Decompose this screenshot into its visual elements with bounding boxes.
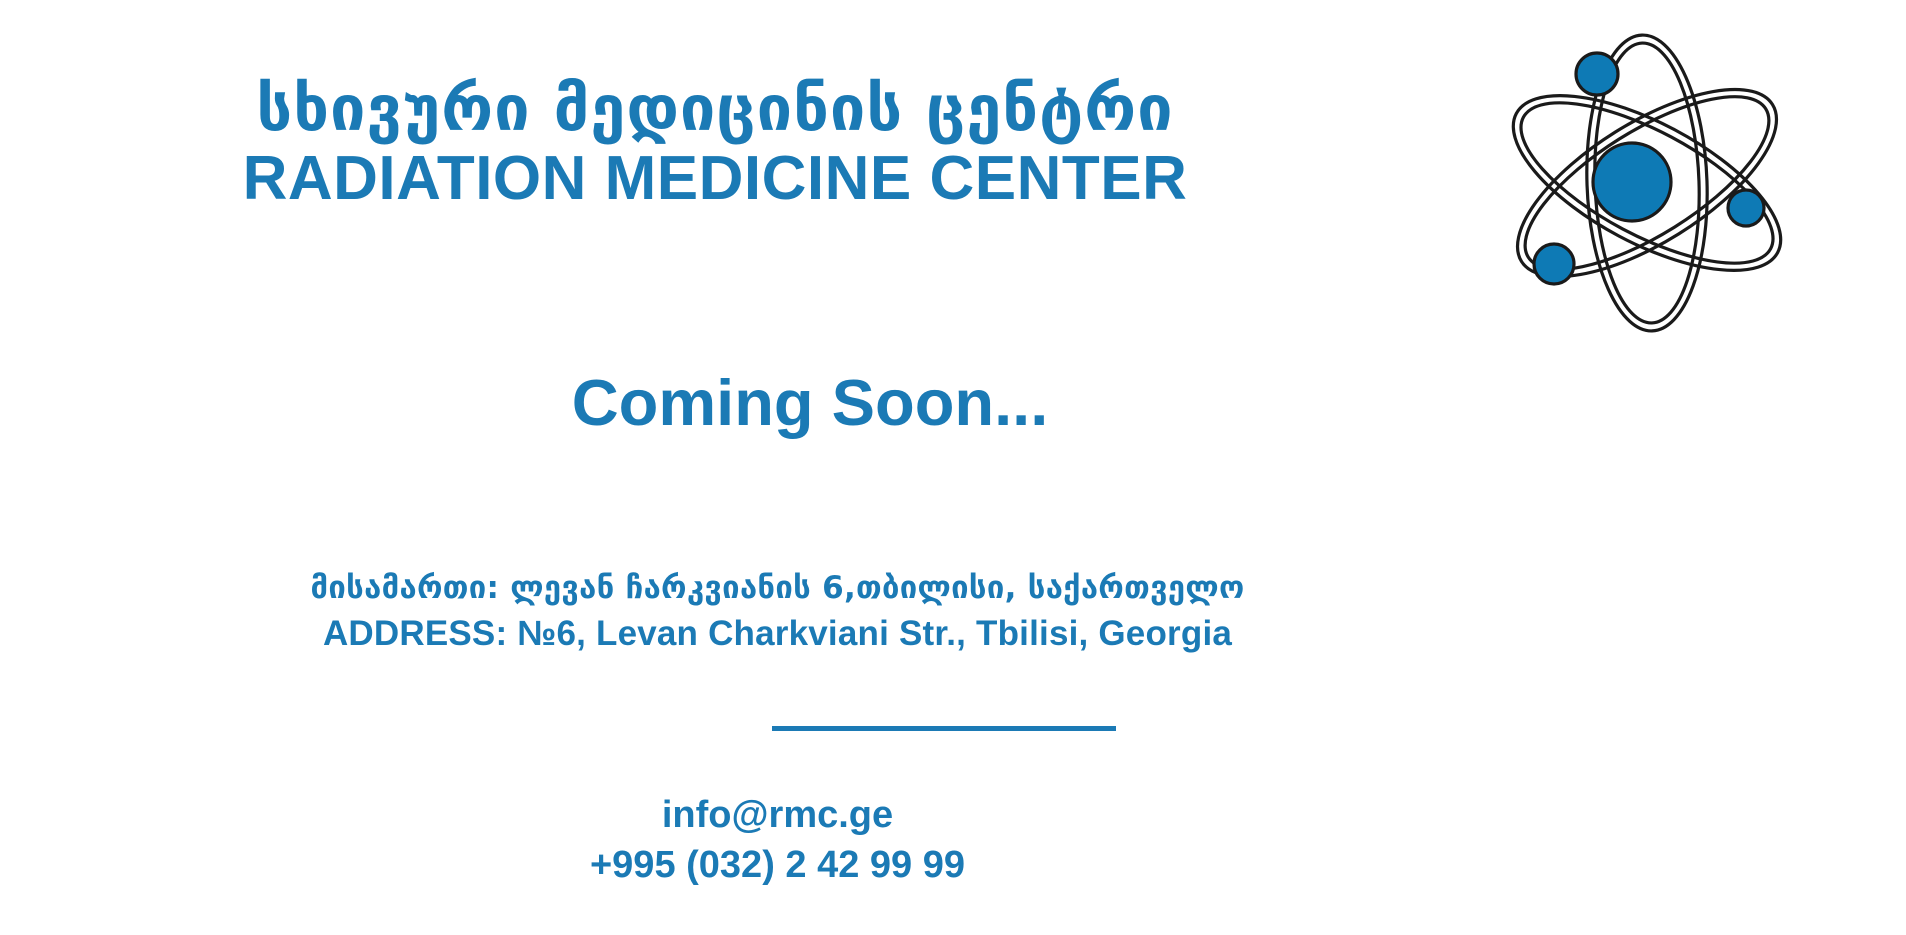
atom-logo-svg: [1482, 18, 1812, 348]
header-titles: სხივური მედიცინის ცენტრი RADIATION MEDIC…: [0, 72, 1430, 212]
atom-electron-right: [1728, 190, 1764, 226]
address-line-en: ADDRESS: №6, Levan Charkviani Str., Tbil…: [0, 610, 1555, 658]
page-root: სხივური მედიცინის ცენტრი RADIATION MEDIC…: [0, 0, 1906, 935]
page-title-ka: სხივური მედიცინის ცენტრი: [0, 72, 1430, 146]
page-title-en: RADIATION MEDICINE CENTER: [0, 146, 1430, 212]
status-text: Coming Soon...: [0, 364, 1620, 442]
contact-block: info@rmc.ge +995 (032) 2 42 99 99: [0, 790, 1555, 890]
contact-phone[interactable]: +995 (032) 2 42 99 99: [0, 840, 1555, 890]
address-line-ka: მისამართი: ლევან ჩარკვიანის 6,თბილისი, ს…: [0, 566, 1555, 610]
atom-logo: [1482, 18, 1812, 348]
divider: [772, 726, 1116, 731]
atom-nucleus: [1593, 143, 1671, 221]
atom-electron-top: [1576, 53, 1618, 95]
address-block: მისამართი: ლევან ჩარკვიანის 6,თბილისი, ს…: [0, 566, 1555, 658]
atom-electron-left: [1534, 244, 1574, 284]
contact-email[interactable]: info@rmc.ge: [0, 790, 1555, 840]
